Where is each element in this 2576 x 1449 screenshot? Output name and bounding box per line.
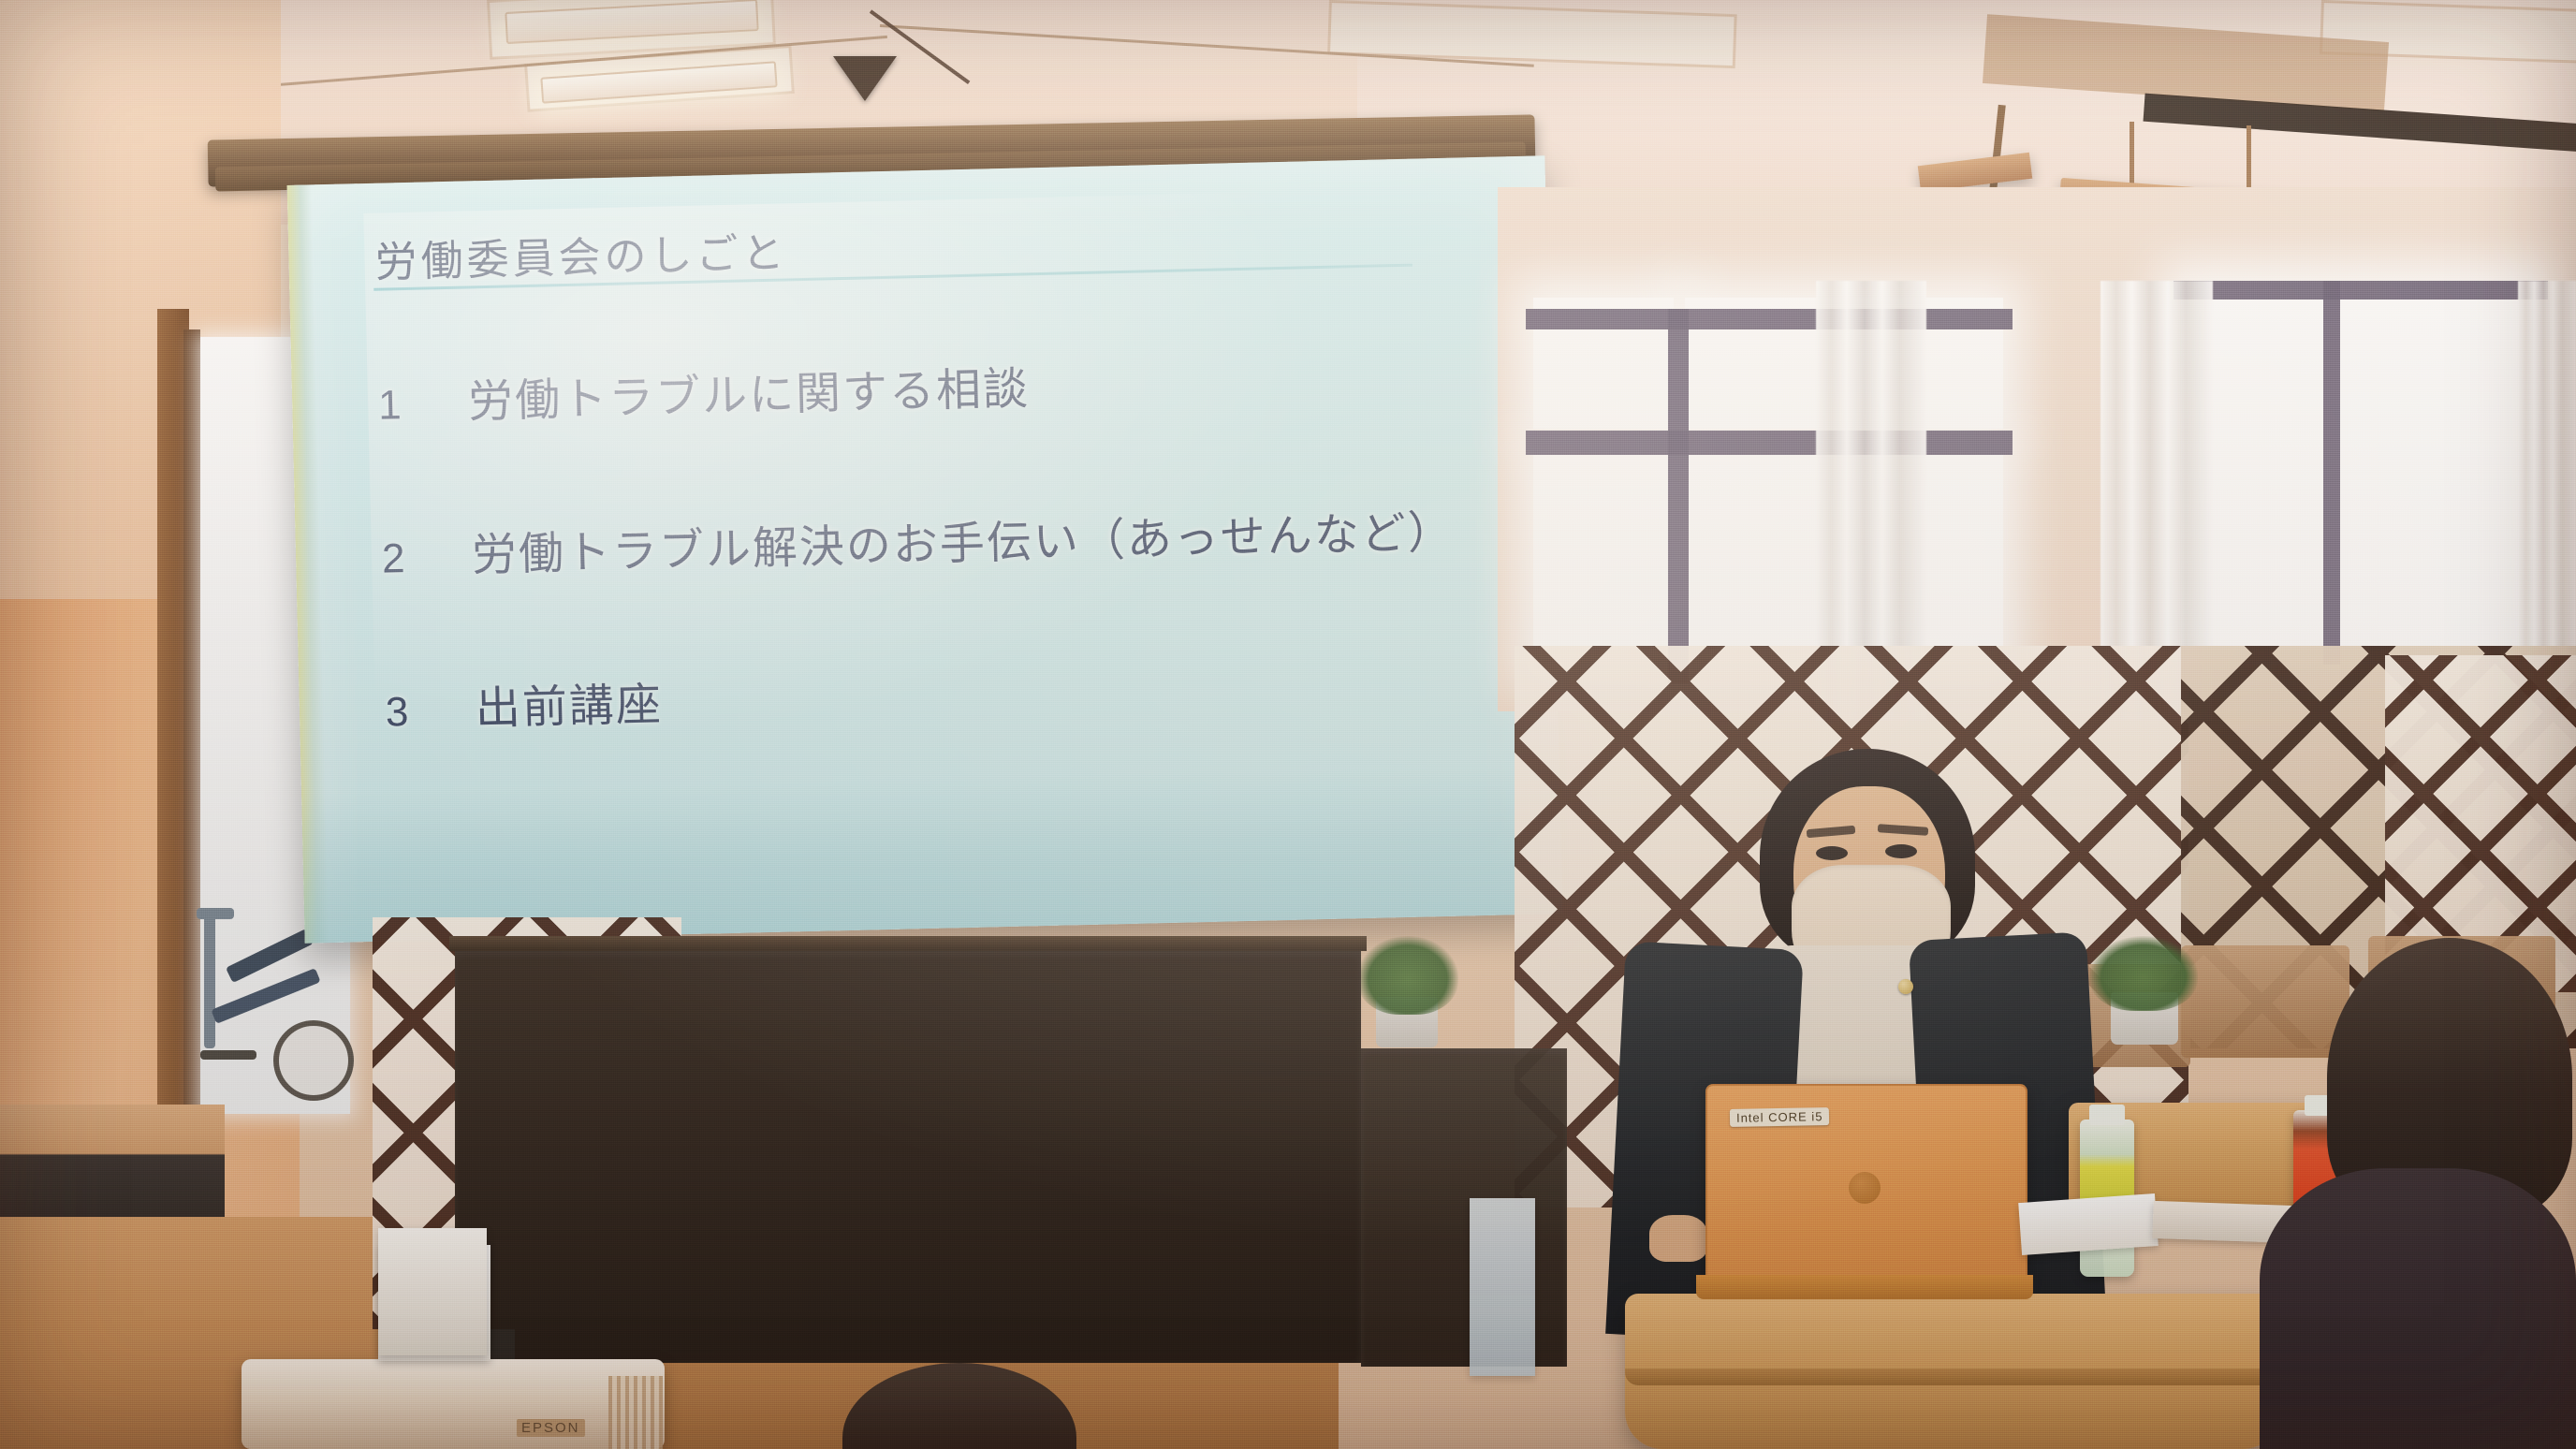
slide-item-2-text: 労働トラブル解決のお手伝い（あっせんなど） (471, 495, 1455, 584)
projection-screen: 労働委員会のしごと 1 労働トラブルに関する相談 2 労働トラブル解決のお手伝い… (287, 155, 1563, 943)
photograph-seminar-room: 労働委員会のしごと 1 労働トラブルに関する相談 2 労働トラブル解決のお手伝い… (0, 0, 2576, 1449)
slide-item-2: 2 労働トラブル解決のお手伝い（あっせんなど） (381, 493, 1505, 585)
plant-left (1357, 936, 1458, 1015)
presenter-eye-left (1816, 846, 1848, 860)
slide-item-1-text: 労働トラブルに関する相談 (467, 351, 1030, 430)
presenter-laptop-base[interactable] (1696, 1275, 2033, 1299)
plant-right (2089, 936, 2198, 1011)
slide-bullet-list: 1 労働トラブルに関する相談 2 労働トラブル解決のお手伝い（あっせんなど） 3… (377, 340, 1511, 827)
wall-monitor (1470, 1198, 1535, 1376)
slide-item-2-number: 2 (382, 534, 473, 582)
window-right-pane (2181, 281, 2537, 665)
window-mullion-vertical (1668, 309, 1689, 683)
wheelchair-seat (211, 968, 320, 1024)
presenter-hand (1649, 1215, 1707, 1262)
slide-item-1: 1 労働トラブルに関する相談 (377, 340, 1501, 432)
wheelchair-frame-bar (204, 908, 215, 1048)
stage-dark-panel (455, 951, 1361, 1363)
window-mullion-horizontal (1526, 309, 2012, 329)
slide-item-3: 3 出前講座 (385, 647, 1509, 739)
wheelchair-wheel (273, 1020, 354, 1101)
slide-item-1-number: 1 (378, 380, 469, 429)
slide-title: 労働委員会のしごと (374, 218, 788, 288)
projector-vent-grill (608, 1376, 663, 1449)
projector-brand-label: EPSON (517, 1419, 585, 1437)
window-right-mullion-h (2173, 281, 2548, 300)
presenter-table-edge (1625, 1368, 2280, 1385)
presenter-eye-right (1885, 844, 1917, 858)
stage-dark-panel-right (1361, 1048, 1567, 1367)
presenter-lapel-pin (1898, 979, 1913, 994)
wheelchair-handle (197, 908, 234, 919)
window-mullion-mid (1526, 431, 2012, 455)
curtain-far-right (2518, 281, 2576, 683)
documents-on-table (2018, 1193, 2159, 1255)
laptop-spec-badge: Intel CORE i5 (1730, 1107, 1830, 1127)
window-right-mullion-v (2323, 281, 2340, 665)
table-sign (378, 1228, 487, 1355)
slide-item-3-text: 出前講座 (475, 667, 664, 738)
ceiling-speaker (833, 56, 897, 101)
green-tea-bottle-cap (2089, 1105, 2125, 1125)
attendee-right-body (2260, 1168, 2576, 1449)
window-lower-left (1533, 449, 1674, 674)
chair-back-left (2181, 945, 2349, 1058)
slide-item-3-number: 3 (385, 687, 476, 736)
projector (241, 1359, 665, 1449)
stage-panel-trim (449, 936, 1367, 951)
laptop-logo-icon (1849, 1172, 1881, 1204)
wheelchair-footrest (200, 1050, 256, 1060)
